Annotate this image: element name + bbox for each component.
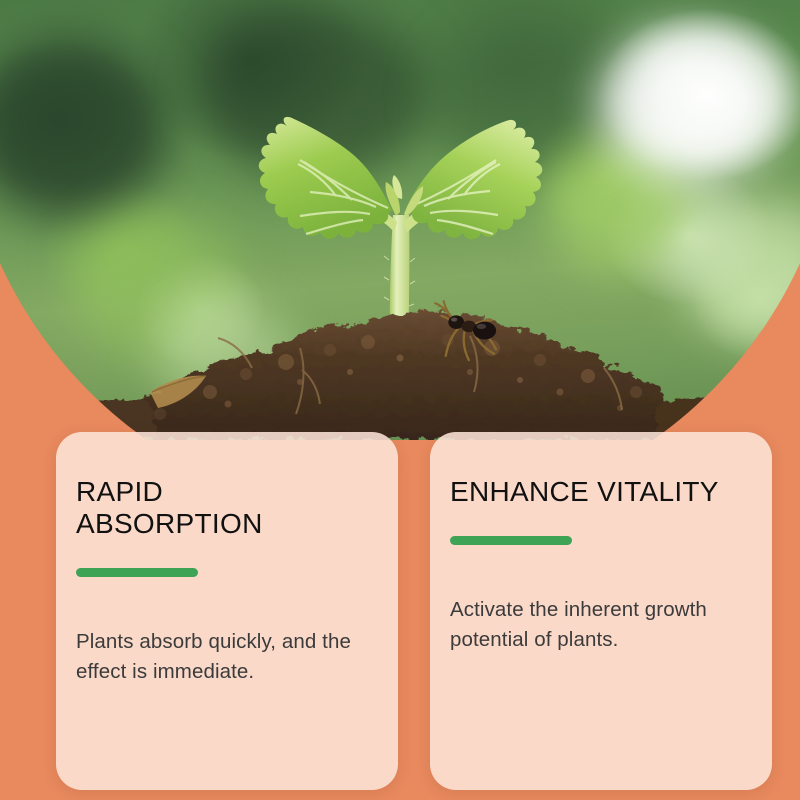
poster-root: RAPID ABSORPTION Plants absorb quickly, …	[0, 0, 800, 800]
card-accent-rule	[76, 568, 198, 577]
hero-photo	[0, 0, 800, 440]
card-body-text: Activate the inherent growth potential o…	[450, 595, 748, 655]
card-title: RAPID ABSORPTION	[76, 476, 374, 540]
card-title: ENHANCE VITALITY	[450, 476, 748, 508]
feature-cards: RAPID ABSORPTION Plants absorb quickly, …	[56, 432, 772, 790]
feature-card-rapid-absorption[interactable]: RAPID ABSORPTION Plants absorb quickly, …	[56, 432, 398, 790]
card-body-text: Plants absorb quickly, and the effect is…	[76, 627, 374, 687]
feature-card-enhance-vitality[interactable]: ENHANCE VITALITY Activate the inherent g…	[430, 432, 772, 790]
card-accent-rule	[450, 536, 572, 545]
soil-mound	[0, 0, 800, 440]
